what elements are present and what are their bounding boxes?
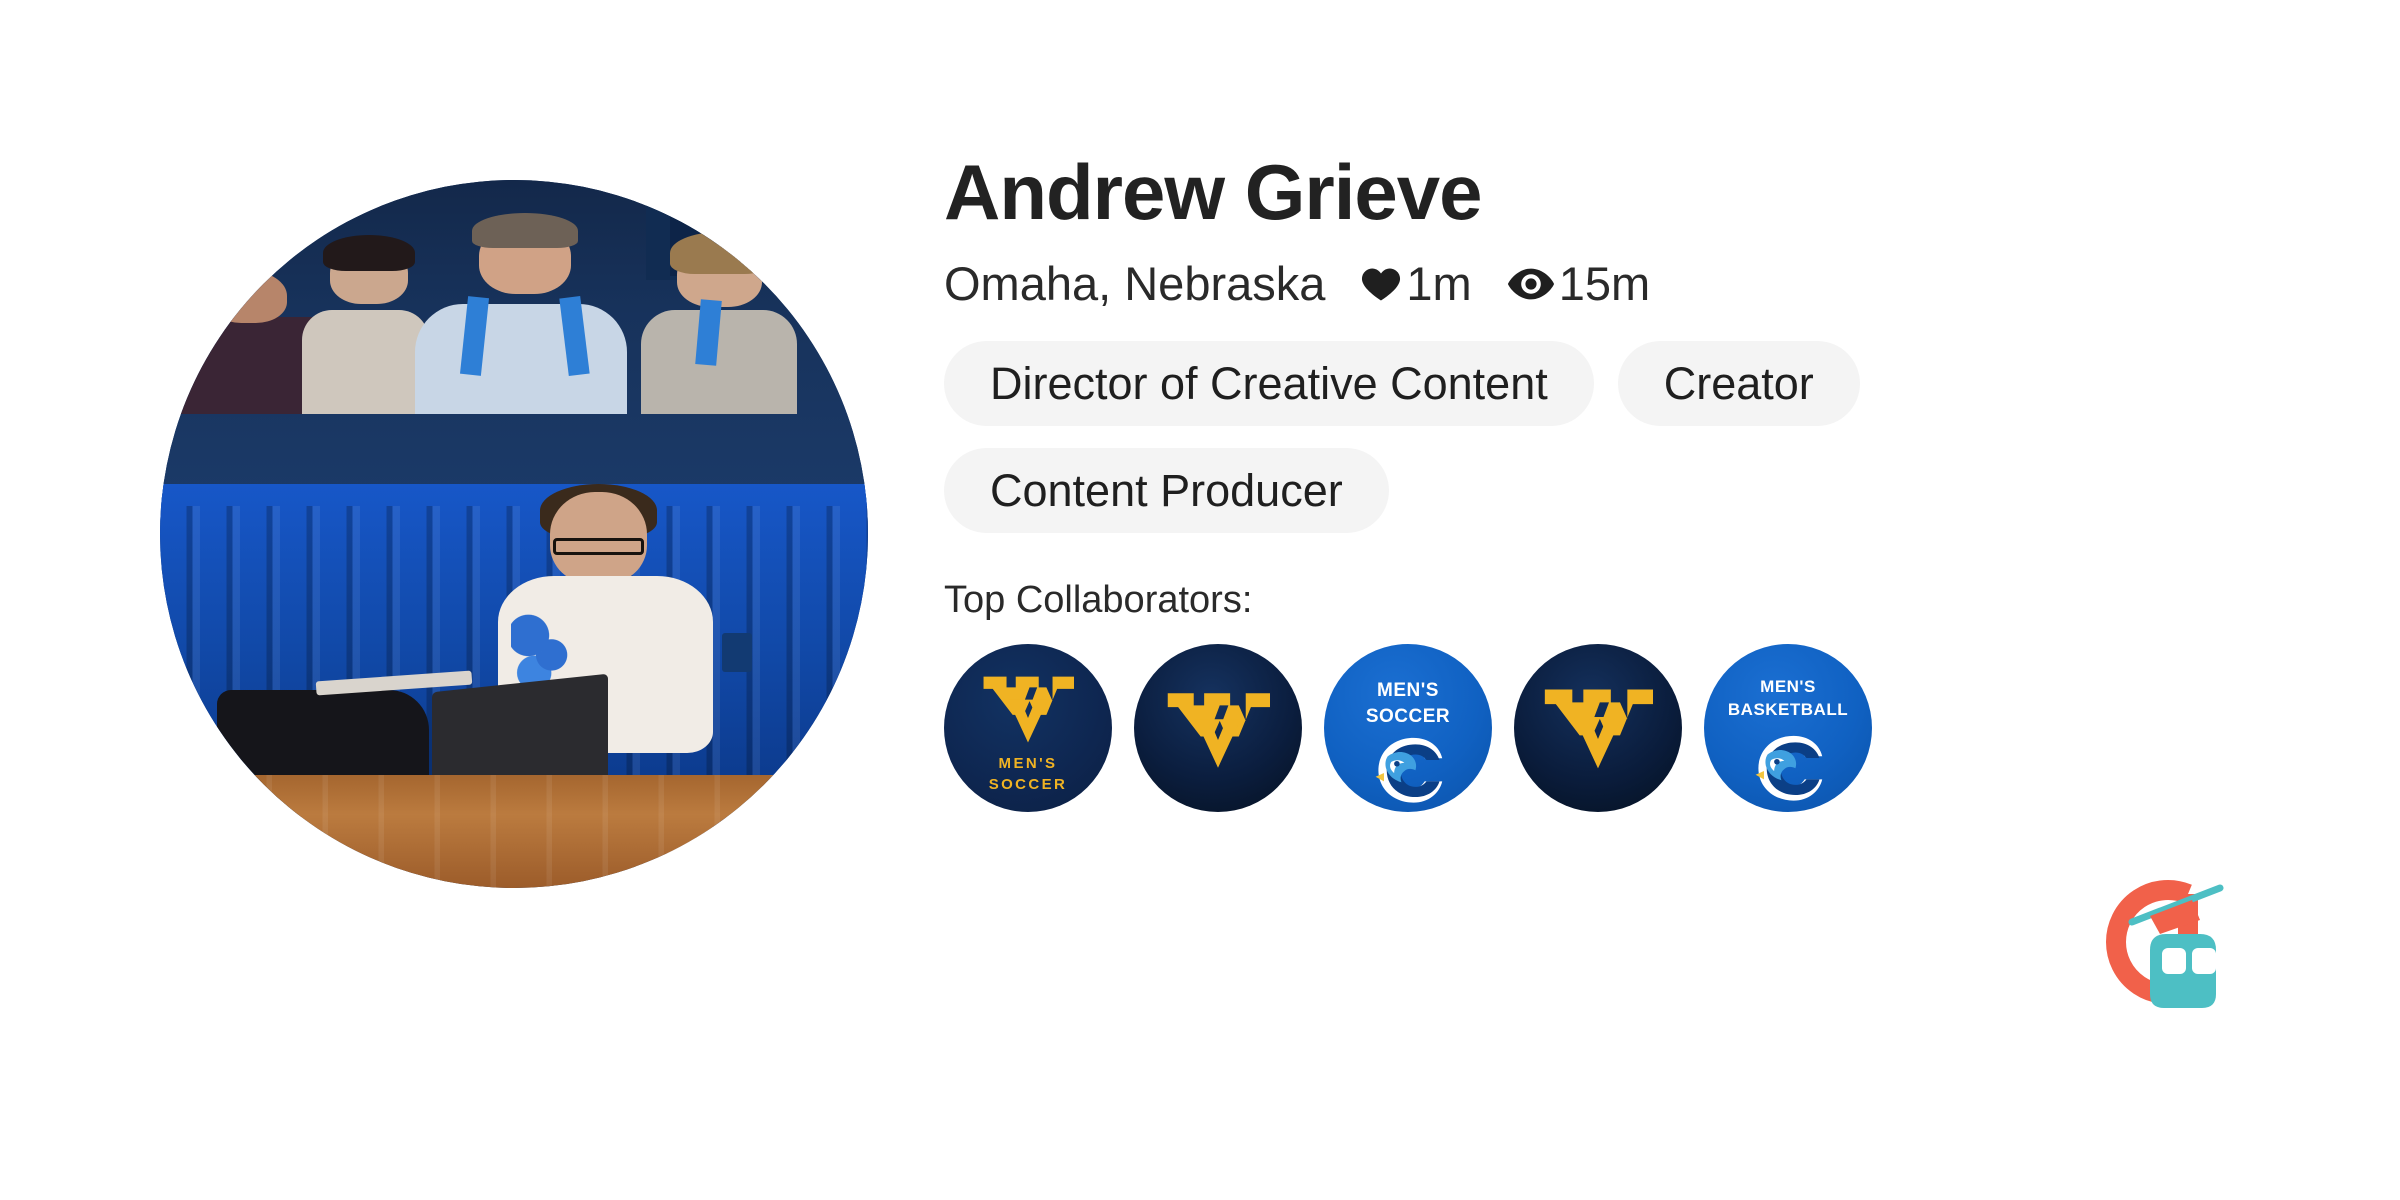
collaborator-avatar[interactable]	[1514, 644, 1682, 812]
collaborator-avatar[interactable]: MEN'S SOCCER	[1324, 644, 1492, 812]
collaborator-avatar[interactable]: MEN'S BASKETBALL	[1704, 644, 1872, 812]
profile-card: Andrew Grieve Omaha, Nebraska 1m	[0, 0, 2400, 1200]
heart-icon	[1359, 262, 1403, 306]
profile-details: Andrew Grieve Omaha, Nebraska 1m	[944, 150, 2244, 812]
photo-spectator-hair	[472, 213, 578, 249]
photo-spectator-hair	[670, 232, 769, 274]
photo-spectator-hair	[323, 235, 415, 271]
views-value: 15m	[1559, 256, 1650, 311]
role-tag[interactable]: Director of Creative Content	[944, 341, 1594, 426]
photo-subject-glasses	[553, 538, 644, 556]
photo-spectator	[415, 304, 627, 415]
likes-value: 1m	[1406, 256, 1471, 311]
collaborator-avatar[interactable]	[1134, 644, 1302, 812]
top-collaborators-list: MEN'S SOCCER MEN'S SOCCER	[944, 644, 2244, 812]
photo-spectator-head	[210, 271, 288, 323]
page-title: Andrew Grieve	[944, 150, 2244, 234]
likes-stat: 1m	[1359, 256, 1471, 311]
flying-wv-icon	[982, 672, 1074, 746]
photo-subject-shirt-logo	[722, 633, 751, 672]
eye-icon	[1506, 262, 1556, 306]
top-collaborators-label: Top Collaborators:	[944, 579, 2244, 622]
collaborator-sport-line1: MEN'S	[1377, 680, 1439, 701]
flying-wv-icon	[1543, 684, 1653, 772]
collaborator-sport-label: MEN'S BASKETBALL	[1704, 676, 1872, 722]
collaborator-sport-label: MEN'S SOCCER	[1324, 678, 1492, 729]
flying-wv-icon	[1166, 688, 1270, 771]
role-tag[interactable]: Content Producer	[944, 448, 1389, 533]
profile-photo	[160, 180, 868, 888]
avatar[interactable]	[160, 180, 868, 888]
collaborator-sport-label: MEN'S SOCCER	[944, 754, 1112, 795]
collaborator-sport-line1: MEN'S	[1760, 677, 1816, 696]
role-tag-list: Director of Creative Content Creator Con…	[944, 341, 2194, 533]
photo-spectator	[302, 310, 429, 414]
photo-court-floor-sheen	[160, 775, 868, 888]
creighton-bluejay-c-icon	[1371, 736, 1445, 804]
collaborator-sport-line2: BASKETBALL	[1728, 700, 1848, 719]
profile-meta: Omaha, Nebraska 1m 15m	[944, 256, 2244, 311]
profile-location: Omaha, Nebraska	[944, 256, 1325, 311]
creighton-bluejay-c-icon	[1751, 734, 1825, 802]
collaborator-sport-line2: SOCCER	[989, 776, 1068, 793]
role-tag[interactable]: Creator	[1618, 341, 1860, 426]
views-stat: 15m	[1506, 256, 1650, 311]
collaborator-avatar[interactable]: MEN'S SOCCER	[944, 644, 1112, 812]
collaborator-sport-line1: MEN'S	[999, 755, 1058, 772]
collaborator-sport-line2: SOCCER	[1366, 706, 1450, 727]
photo-crowd	[160, 180, 868, 506]
gondola-logo	[2088, 876, 2268, 1036]
